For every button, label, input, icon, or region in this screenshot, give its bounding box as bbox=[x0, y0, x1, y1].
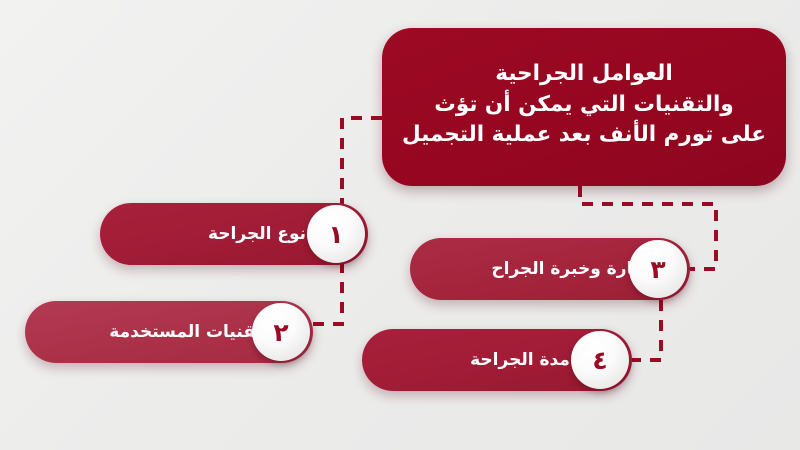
main-title-card: العوامل الجراحية والتقنيات التي يمكن أن … bbox=[382, 28, 786, 186]
infographic-canvas: العوامل الجراحية والتقنيات التي يمكن أن … bbox=[0, 0, 800, 450]
item-node-2[interactable]: التقنيات المستخدمة ٢ bbox=[25, 301, 313, 363]
title-line-2: والتقنيات التي يمكن أن تؤث bbox=[434, 90, 733, 121]
item-badge-3: ٣ bbox=[629, 240, 687, 298]
item-number-2: ٢ bbox=[273, 320, 288, 345]
title-line-1: العوامل الجراحية bbox=[495, 59, 672, 90]
connector-item-1-to-item-2 bbox=[313, 262, 342, 324]
item-node-4[interactable]: مدة الجراحة ٤ bbox=[362, 329, 632, 391]
item-number-3: ٣ bbox=[650, 257, 665, 282]
item-badge-1: ١ bbox=[307, 205, 365, 263]
connector-item-3-to-item-4 bbox=[632, 300, 661, 360]
item-badge-2: ٢ bbox=[252, 303, 310, 361]
item-node-1[interactable]: نوع الجراحة ١ bbox=[100, 203, 368, 265]
item-number-1: ١ bbox=[328, 222, 343, 247]
item-node-3[interactable]: مهارة وخبرة الجراح ٣ bbox=[410, 238, 690, 300]
item-badge-4: ٤ bbox=[571, 331, 629, 389]
item-number-4: ٤ bbox=[592, 348, 607, 373]
connector-title-to-item-1 bbox=[342, 118, 382, 210]
title-line-3: على تورم الأنف بعد عملية التجميل bbox=[402, 120, 766, 151]
